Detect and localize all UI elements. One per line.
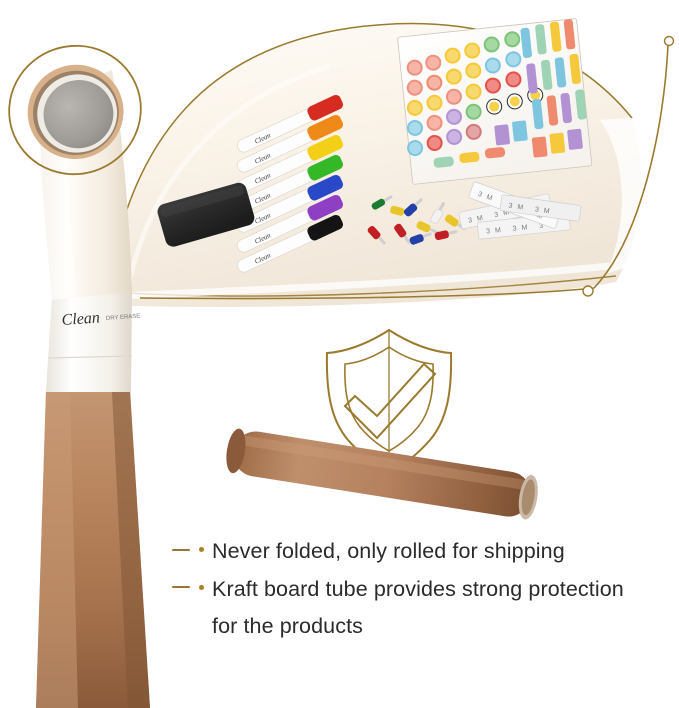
feature-bullet-list: Never folded, only rolled for shipping K…	[172, 536, 667, 649]
dash-icon	[172, 549, 190, 551]
product-marketing-image: Clean Clean Clean Clean	[0, 0, 679, 708]
kraft-mailing-tube	[224, 427, 541, 521]
connector-node-top	[665, 37, 674, 46]
bullet-item-2-continued: for the products	[172, 611, 667, 642]
bullet-text-1: Never folded, only rolled for shipping	[212, 536, 565, 567]
bullet-text-3: for the products	[212, 611, 363, 642]
brand-script-text: Clean	[61, 309, 100, 329]
rolled-board: Clean DRY ERASE	[0, 29, 158, 708]
connector-node-bottom	[583, 286, 593, 296]
dash-icon	[172, 586, 190, 588]
dot-icon	[199, 547, 204, 552]
dot-icon	[199, 585, 204, 590]
bullet-item-2: Kraft board tube provides strong protect…	[172, 574, 667, 605]
bullet-item-1: Never folded, only rolled for shipping	[172, 536, 667, 567]
bullet-marker	[172, 574, 204, 590]
sticker-sheet	[395, 18, 591, 184]
svg-text:DRY ERASE: DRY ERASE	[106, 314, 141, 322]
bullet-marker	[172, 536, 204, 552]
bullet-text-2: Kraft board tube provides strong protect…	[212, 574, 624, 605]
